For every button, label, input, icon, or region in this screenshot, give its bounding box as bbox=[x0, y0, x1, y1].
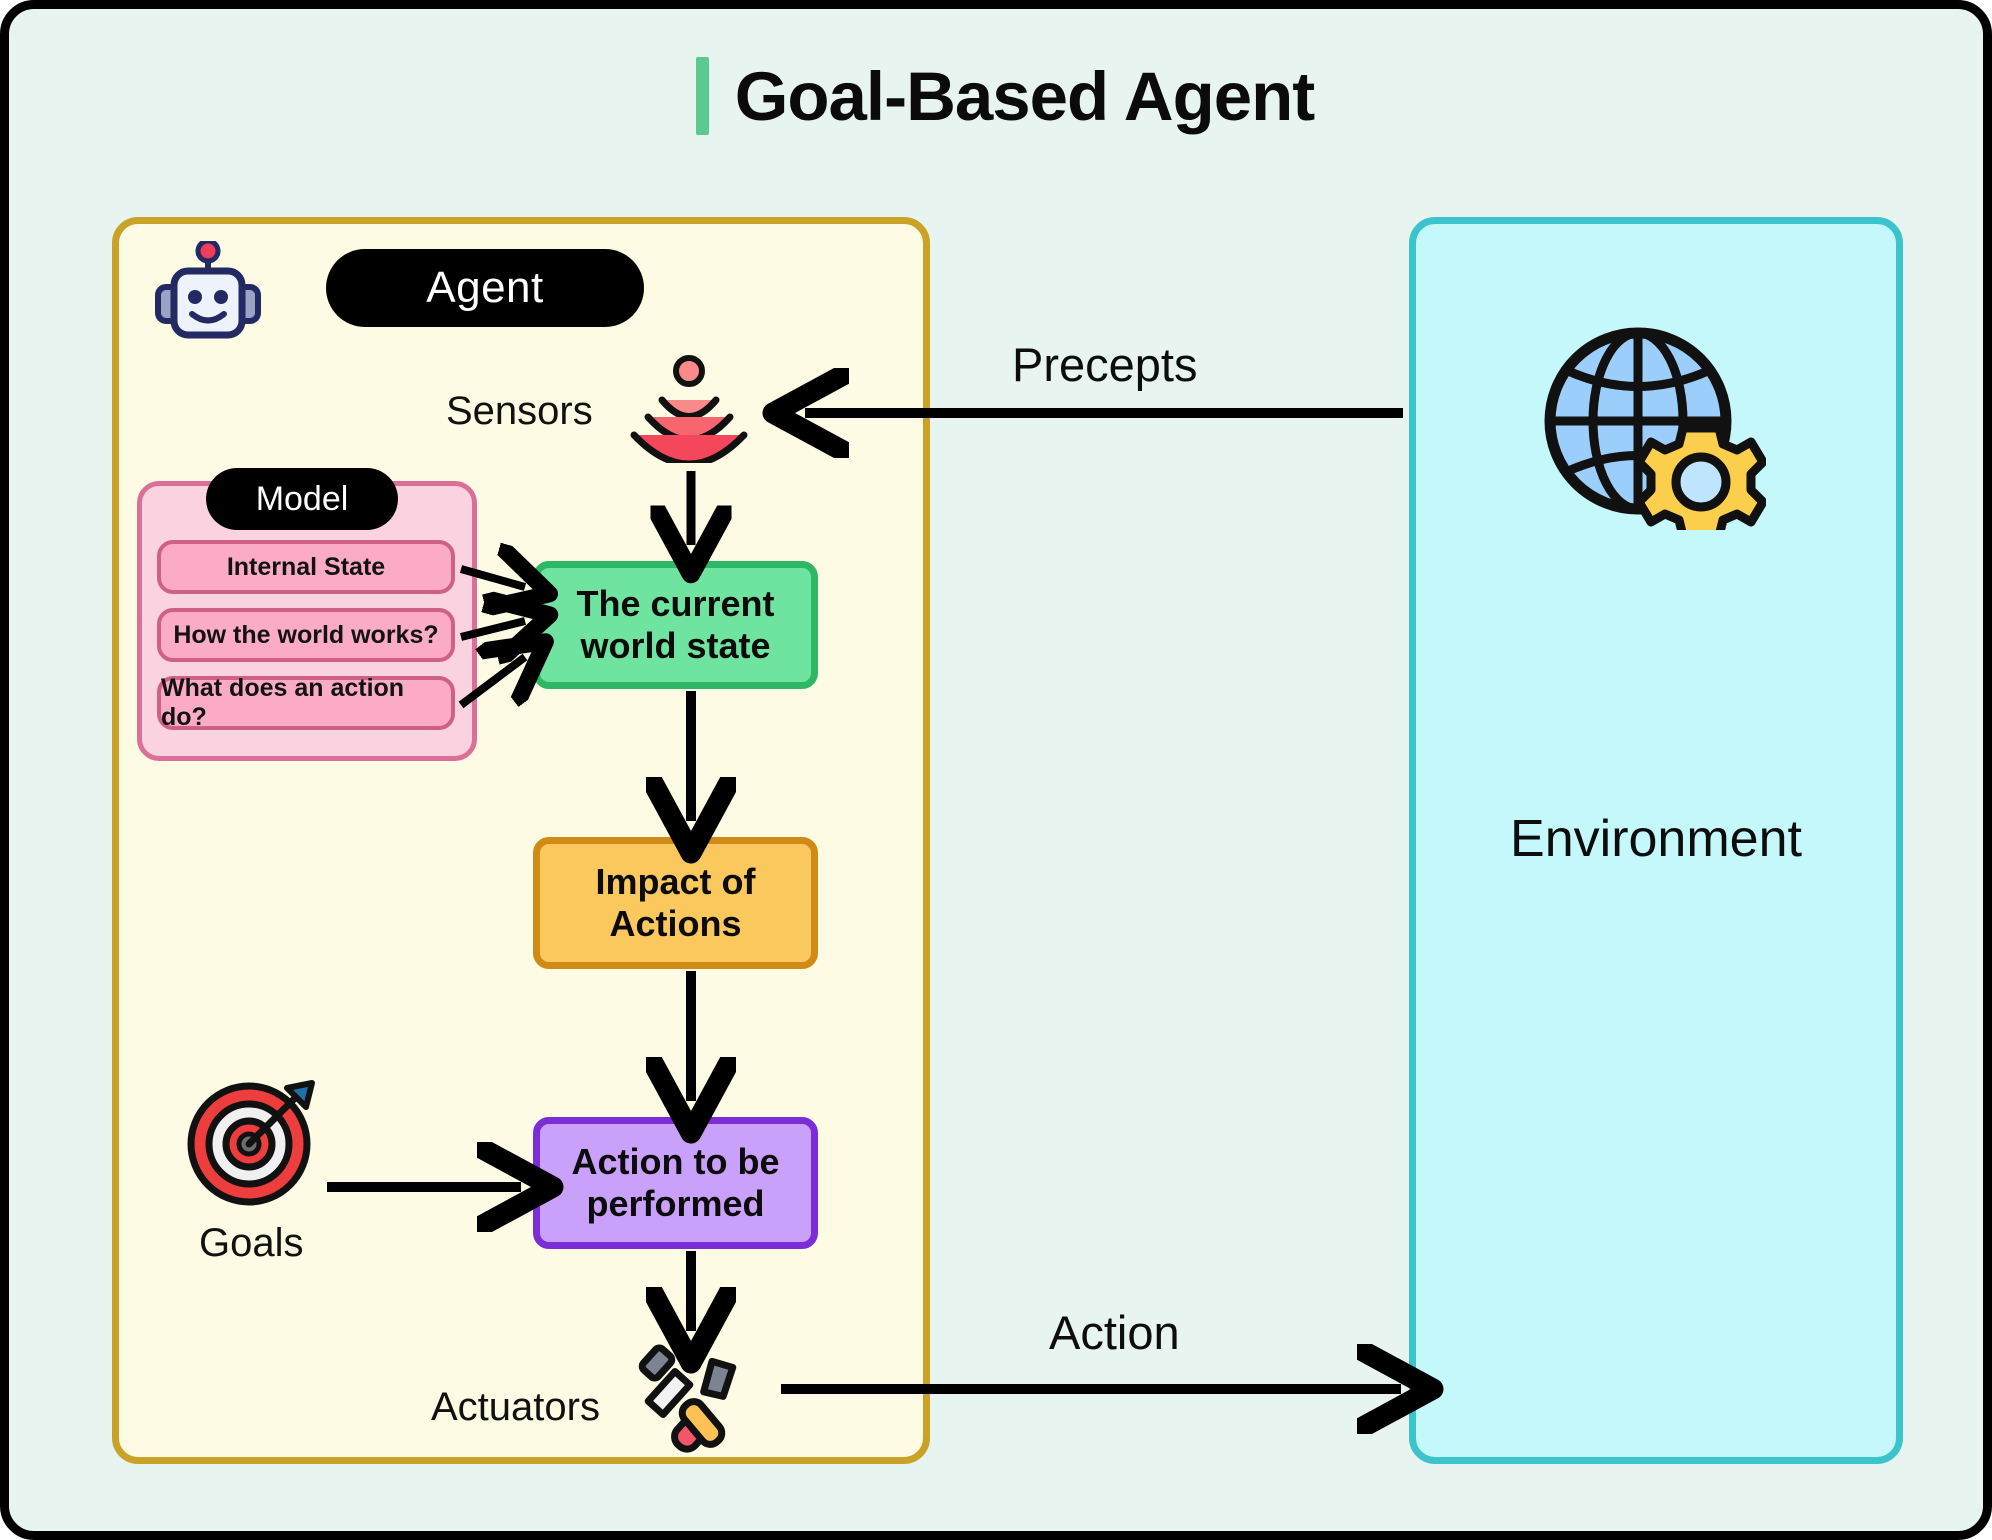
model-label-pill: Model bbox=[206, 468, 398, 530]
model-item-internal-state: Internal State bbox=[157, 540, 455, 594]
model-item-what-action-does: What does an action do? bbox=[157, 676, 455, 730]
model-item-how-world-works: How the world works? bbox=[157, 608, 455, 662]
process-box-impact-of-actions: Impact of Actions bbox=[533, 837, 818, 969]
title-accent-bar bbox=[696, 57, 709, 135]
environment-label: Environment bbox=[1409, 809, 1903, 869]
process-box-action-to-be-performed: Action to be performed bbox=[533, 1117, 818, 1249]
signal-waves-icon bbox=[629, 351, 749, 463]
model-label: Model bbox=[256, 480, 349, 519]
sensors-label: Sensors bbox=[446, 389, 593, 434]
hammer-screwdriver-icon bbox=[629, 1339, 753, 1457]
target-with-arrow-icon bbox=[186, 1075, 322, 1207]
process-box-current-world-state: The current world state bbox=[533, 561, 818, 689]
agent-label-pill: Agent bbox=[326, 249, 644, 327]
page-title: Goal-Based Agent bbox=[9, 41, 1992, 151]
diagram-canvas: Goal-Based Agent Agent Sensors Internal bbox=[0, 0, 1992, 1540]
title-text: Goal-Based Agent bbox=[735, 57, 1315, 136]
actuators-label: Actuators bbox=[431, 1385, 600, 1430]
goals-label: Goals bbox=[199, 1221, 304, 1266]
agent-label: Agent bbox=[426, 263, 543, 313]
precepts-flow-label: Precepts bbox=[1012, 337, 1197, 392]
globe-with-gear-icon bbox=[1536, 325, 1766, 530]
robot-icon bbox=[154, 241, 262, 341]
action-flow-label: Action bbox=[1049, 1305, 1180, 1360]
